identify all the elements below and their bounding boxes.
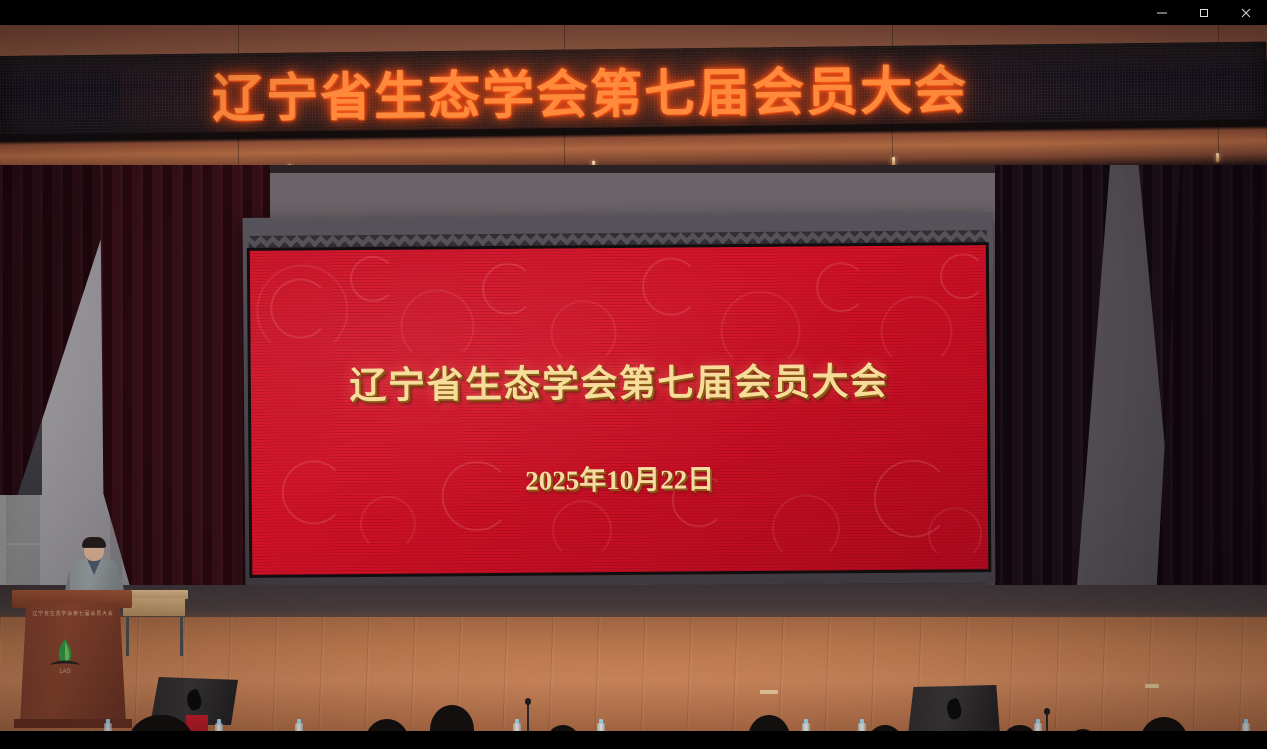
glasses-icon bbox=[85, 547, 103, 551]
decorative-swirl-pattern bbox=[250, 245, 989, 575]
led-display-frame: 辽宁省生态学会第七届会员大会 2025年10月22日 bbox=[243, 212, 996, 588]
speaker-horn-icon bbox=[944, 697, 963, 720]
presentation-date: 2025年10月22日 bbox=[251, 455, 987, 500]
minimize-icon bbox=[1156, 7, 1168, 19]
close-icon bbox=[1240, 7, 1252, 19]
close-button[interactable] bbox=[1225, 0, 1267, 25]
window-title-bar bbox=[0, 0, 1267, 25]
svg-text:LAS: LAS bbox=[59, 669, 70, 675]
side-table-leg bbox=[126, 616, 129, 656]
screenshot-root: 辽宁省生态学会第七届会员大会 bbox=[0, 0, 1267, 749]
maximize-icon bbox=[1198, 7, 1210, 19]
conference-photo: 辽宁省生态学会第七届会员大会 bbox=[0, 25, 1267, 749]
maximize-button[interactable] bbox=[1183, 0, 1225, 25]
bottom-black-bar bbox=[0, 731, 1267, 749]
podium-banner-text: 辽宁省生态学会第七届会员大会 bbox=[26, 609, 120, 617]
side-table-apron bbox=[123, 598, 185, 616]
podium-base bbox=[14, 719, 132, 728]
floor-marker bbox=[760, 690, 778, 694]
led-display-screen: 辽宁省生态学会第七届会员大会 2025年10月22日 bbox=[250, 245, 989, 575]
green-leaf-institution-logo: LAS bbox=[45, 637, 85, 675]
floor-marker bbox=[1145, 684, 1159, 688]
stage-monitor-speaker bbox=[908, 685, 1000, 735]
leaf-logo-icon: LAS bbox=[45, 637, 85, 675]
minimize-button[interactable] bbox=[1141, 0, 1183, 25]
speaker-horn-icon bbox=[184, 689, 203, 712]
side-table-leg bbox=[180, 616, 183, 656]
presentation-title: 辽宁省生态学会第七届会员大会 bbox=[251, 350, 987, 410]
downlight-icon bbox=[1216, 153, 1219, 162]
led-banner-text: 辽宁省生态学会第七届会员大会 bbox=[212, 48, 969, 132]
